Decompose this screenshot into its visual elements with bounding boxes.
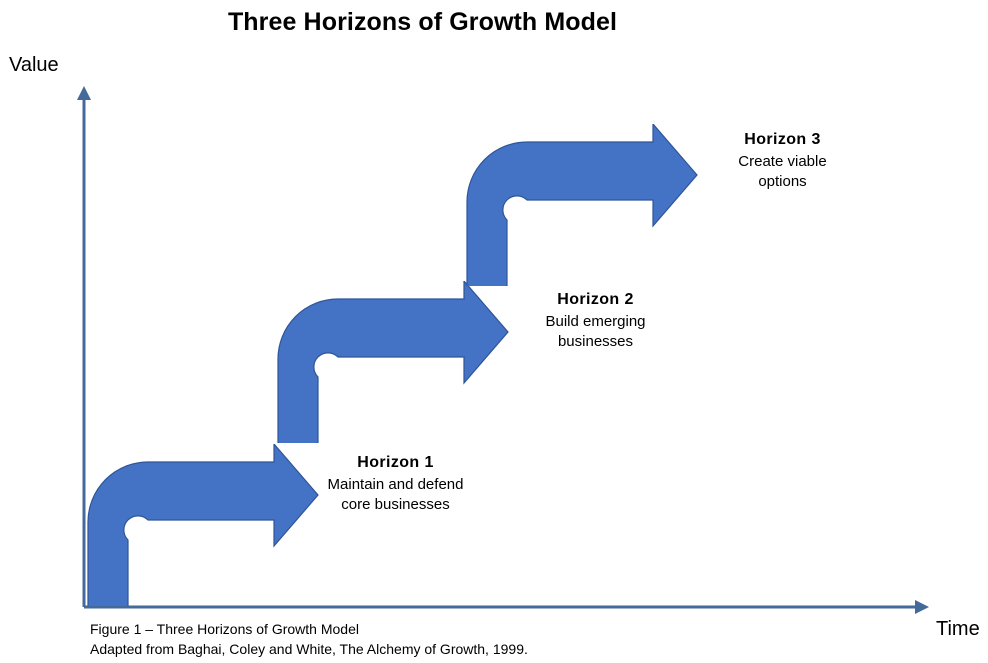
caption-line-1: Figure 1 – Three Horizons of Growth Mode… xyxy=(90,620,528,640)
horizon-2-arrow xyxy=(274,281,514,443)
horizon-1-arrow xyxy=(84,444,324,606)
horizon-1-description-line2: core businesses xyxy=(308,495,483,515)
horizon-3-arrow xyxy=(463,124,703,286)
horizon-2-label: Horizon 2 Build emerging businesses xyxy=(508,289,683,352)
horizon-3-description-line2: options xyxy=(695,172,870,192)
y-axis-arrowhead xyxy=(77,86,91,100)
horizon-3-title: Horizon 3 xyxy=(695,129,870,150)
horizon-3-description-line1: Create viable xyxy=(695,152,870,172)
horizon-3-label: Horizon 3 Create viable options xyxy=(695,129,870,192)
horizon-2-description-line1: Build emerging xyxy=(508,312,683,332)
horizon-1-label: Horizon 1 Maintain and defend core busin… xyxy=(308,452,483,515)
arrow-path xyxy=(88,444,318,606)
horizon-1-description-line1: Maintain and defend xyxy=(308,475,483,495)
horizon-2-description-line2: businesses xyxy=(508,332,683,352)
x-axis-arrowhead xyxy=(915,600,929,614)
diagram-canvas: Three Horizons of Growth Model Value Tim… xyxy=(0,0,988,663)
arrow-path xyxy=(278,281,508,443)
horizon-2-title: Horizon 2 xyxy=(508,289,683,310)
arrow-path xyxy=(467,124,697,286)
caption-line-2: Adapted from Baghai, Coley and White, Th… xyxy=(90,640,528,660)
figure-caption: Figure 1 – Three Horizons of Growth Mode… xyxy=(90,620,528,660)
horizon-1-title: Horizon 1 xyxy=(308,452,483,473)
